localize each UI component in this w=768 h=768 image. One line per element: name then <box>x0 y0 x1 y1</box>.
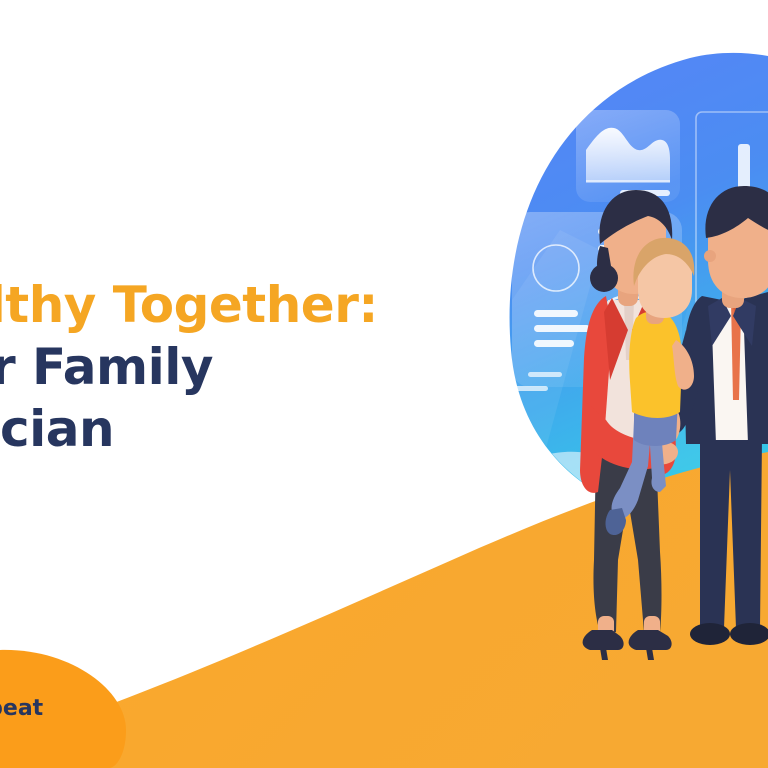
headline-line-3: ysician <box>0 398 542 460</box>
headline-block: ealthy Together: our Family ysician <box>0 274 542 460</box>
hero-banner: ealthy Together: our Family ysician heal… <box>0 0 768 768</box>
headline-line-1: ealthy Together: <box>0 274 542 336</box>
brand-footer-text: healthbeat <box>0 696 43 721</box>
headline-line-2: our Family <box>0 336 542 398</box>
area-chart-card <box>576 110 680 202</box>
